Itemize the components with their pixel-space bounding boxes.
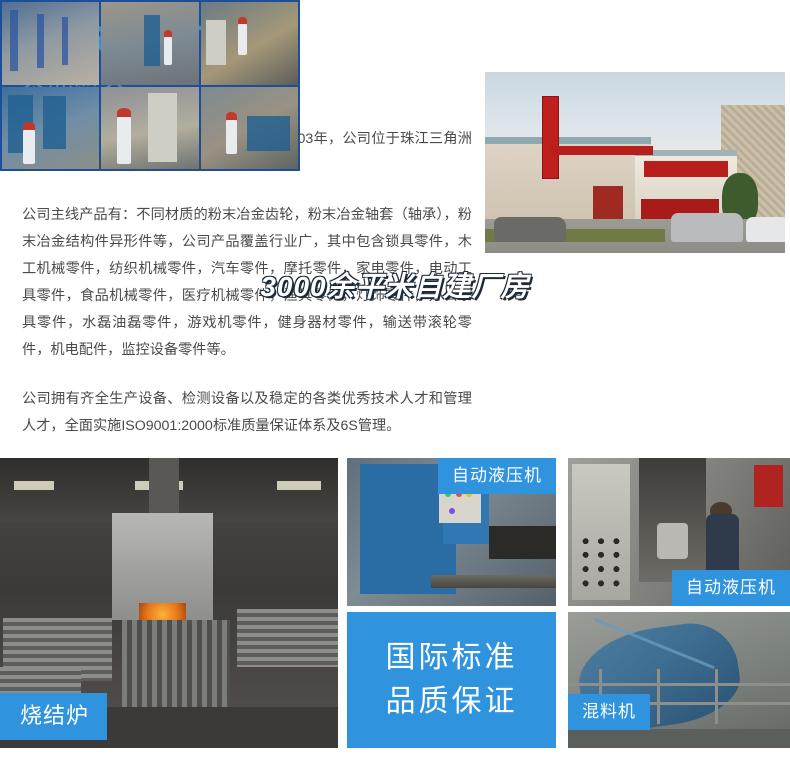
press-ram <box>657 523 688 559</box>
workshop-floor <box>568 729 790 748</box>
worker <box>226 118 237 154</box>
collage-cell-control-panel <box>101 87 198 170</box>
part-tray-stack-right <box>237 609 338 667</box>
car-white-right <box>746 217 785 242</box>
ceiling-light <box>277 481 321 490</box>
worker <box>117 115 131 165</box>
sintering-furnace-photo: 烧结炉 <box>0 458 338 748</box>
helmet <box>23 122 35 130</box>
car-suv-middle <box>671 213 743 242</box>
helmet <box>226 112 237 120</box>
worker <box>164 35 173 65</box>
collage-cell-warehouse <box>2 2 99 85</box>
intro-paragraph-2: 公司主线产品有：不同材质的粉末冶金齿轮，粉末冶金轴套（轴承），粉末冶金结构件异形… <box>22 202 472 364</box>
quality-slogan-line-2: 品质保证 <box>386 680 518 724</box>
car-sedan-left <box>494 217 566 242</box>
wall-banner-certification <box>551 146 653 155</box>
shelf-rack <box>10 10 18 71</box>
worker <box>23 128 35 164</box>
press-machine <box>43 96 66 149</box>
quality-slogan-panel: 国际标准 品质保证 <box>347 612 556 748</box>
shelf-rack <box>62 17 68 65</box>
award-banner <box>754 465 783 506</box>
label-mixer: 混料机 <box>568 694 650 730</box>
label-sintering-furnace: 烧结炉 <box>0 693 107 740</box>
mixer-photo: 混料机 <box>568 612 790 748</box>
welcome-sign <box>644 161 728 177</box>
label-press-right: 自动液压机 <box>672 570 790 606</box>
press-machine <box>144 15 160 66</box>
collage-cell-equipment <box>201 2 298 85</box>
guard-rail-upper <box>568 683 790 686</box>
machine <box>247 116 290 151</box>
press-machine-body <box>639 458 706 582</box>
vertical-red-sign <box>542 96 559 179</box>
automatic-hydraulic-press-photo-right: 自动液压机 <box>568 458 790 606</box>
intro-paragraph-3: 公司拥有齐全生产设备、检测设备以及稳定的各类优秀技术人才和管理人才，全面实施IS… <box>22 386 472 440</box>
control-cabinet <box>148 93 177 162</box>
shelf-rack <box>37 14 44 68</box>
control-cabinet <box>206 20 225 65</box>
label-press-top: 自动液压机 <box>438 458 556 494</box>
floor-rail <box>431 575 556 588</box>
factory-exterior-photo <box>485 72 785 253</box>
company-introduction-text: 中山市翔宇粉末冶金制品有限公司成立于2003年，公司位于珠江三角洲腹地——广东省… <box>22 126 472 440</box>
collage-cell-press-line <box>101 2 198 85</box>
helmet <box>238 17 248 24</box>
worker <box>238 22 248 55</box>
helmet <box>164 30 173 37</box>
cabinet-button-grid <box>579 535 623 597</box>
helmet <box>117 108 131 117</box>
introduction-page: INTRODCTION 企业简介 中山市翔宇粉末冶金制品有限公司成立于2003年… <box>0 0 790 759</box>
collage-cell-blue-presses <box>2 87 99 170</box>
automatic-hydraulic-press-photo-top: 自动液压机 <box>347 458 556 606</box>
ceiling-light <box>14 481 55 490</box>
guard-post <box>657 669 660 723</box>
exterior-illustration <box>485 72 785 253</box>
quality-slogan-line-1: 国际标准 <box>386 636 518 680</box>
guard-post <box>715 669 718 723</box>
powder-hopper <box>489 526 556 559</box>
collage-cell-assembly <box>201 87 298 170</box>
